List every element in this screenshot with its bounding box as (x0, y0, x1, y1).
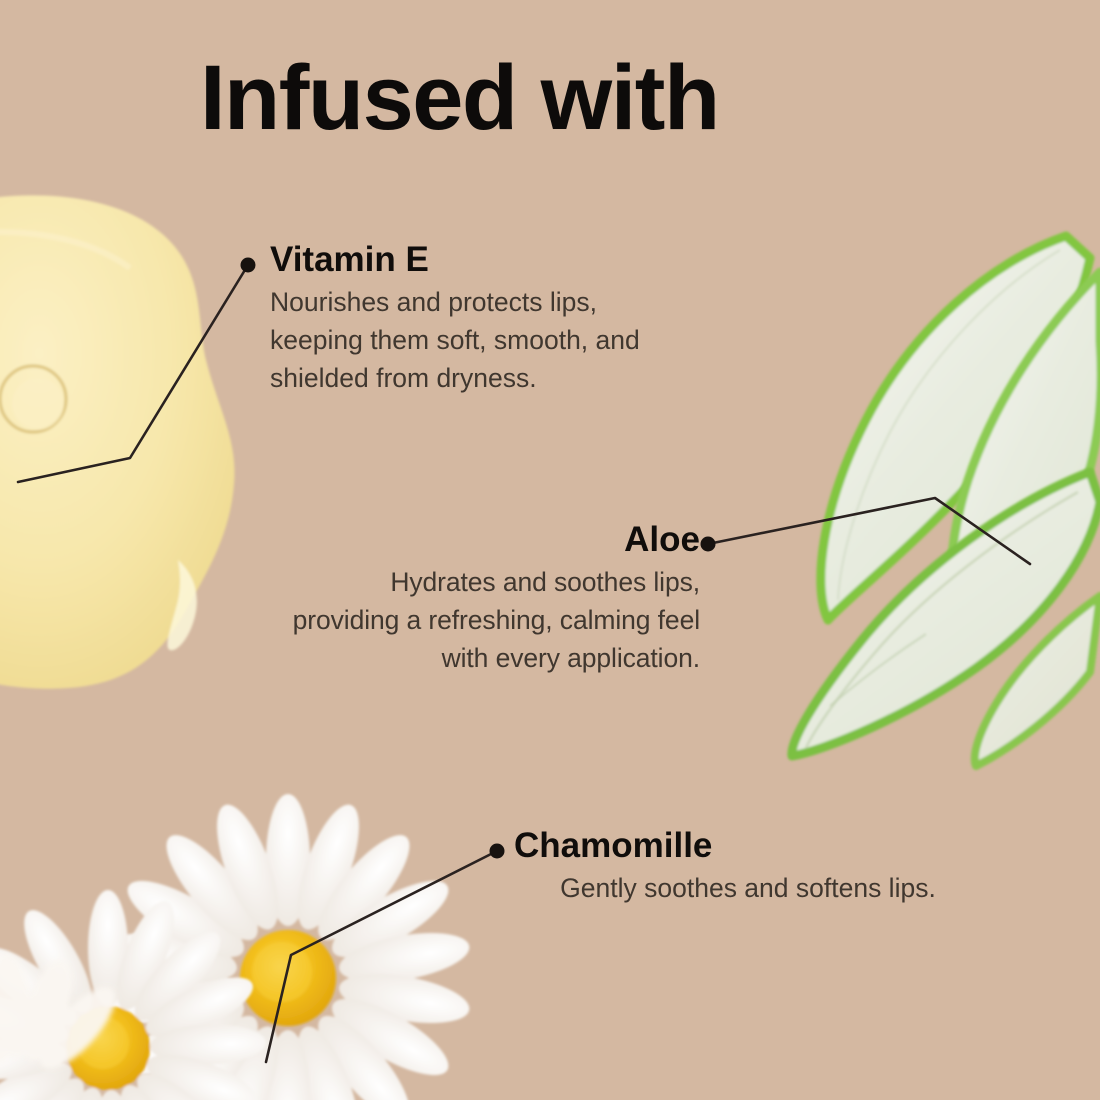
description-line: Nourishes and protects lips, (270, 287, 597, 317)
infographic-canvas: Infused with Vitamin E Nourishes and pro… (0, 0, 1100, 1100)
description-line: Gently soothes and softens lips. (560, 873, 936, 903)
ingredient-name-vitamin-e: Vitamin E (270, 240, 740, 280)
ingredient-description-vitamin-e: Nourishes and protects lips, keeping the… (270, 284, 740, 398)
ingredient-callout-aloe: Aloe Hydrates and soothes lips, providin… (190, 520, 700, 678)
ingredient-callout-chamomille: Chamomille Gently soothes and softens li… (514, 826, 984, 908)
marker-dot-vitamin-e (241, 258, 256, 273)
description-line: keeping them soft, smooth, and (270, 325, 640, 355)
description-line: providing a refreshing, calming feel (293, 605, 700, 635)
leader-line-vitamin-e (18, 265, 248, 482)
marker-dot-chamomille (490, 844, 505, 859)
leader-line-aloe (708, 498, 1030, 564)
description-line: shielded from dryness. (270, 363, 537, 393)
ingredient-description-chamomille: Gently soothes and softens lips. (512, 870, 984, 908)
ingredient-callout-vitamin-e: Vitamin E Nourishes and protects lips, k… (270, 240, 740, 398)
chamomile-daisy-flowers (0, 794, 473, 1100)
description-line: with every application. (442, 643, 700, 673)
ingredient-name-aloe: Aloe (190, 520, 700, 560)
ingredient-description-aloe: Hydrates and soothes lips, providing a r… (190, 564, 700, 678)
aloe-leaf-slices (792, 236, 1100, 766)
page-title: Infused with (200, 52, 900, 144)
marker-dot-aloe (701, 537, 716, 552)
description-line: Hydrates and soothes lips, (390, 567, 700, 597)
leader-line-chamomille (266, 851, 497, 1062)
ingredient-name-chamomille: Chamomille (514, 826, 984, 866)
